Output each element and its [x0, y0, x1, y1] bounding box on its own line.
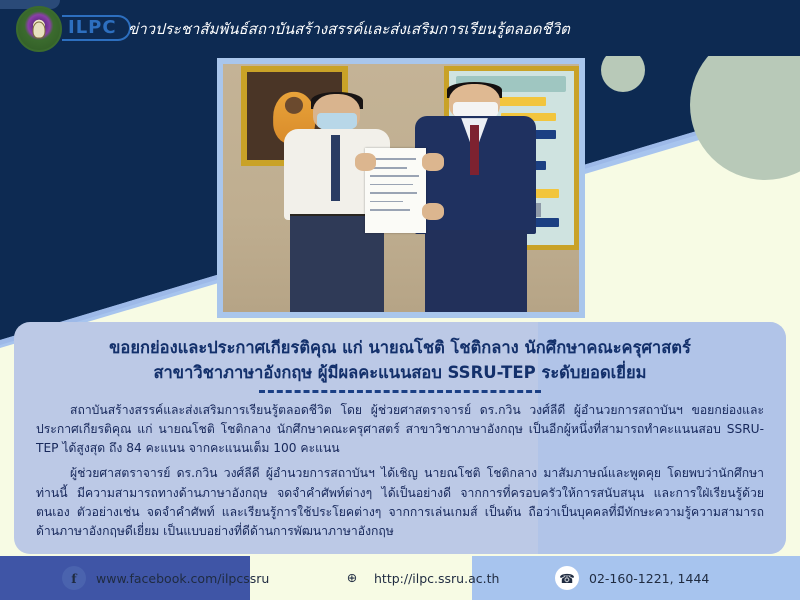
- photo-document-line: [370, 175, 418, 177]
- globe-icon: ⊕: [340, 566, 364, 590]
- photo-document-line: [370, 167, 406, 169]
- news-photo-frame: [217, 58, 585, 318]
- photo-hand-student: [355, 153, 376, 170]
- footer-phone-text: 02-160-1221, 1444: [589, 571, 709, 586]
- ssru-seal-logo-icon: [16, 6, 62, 52]
- ilpc-brand-logo: ILPC: [62, 15, 131, 41]
- phone-icon-glyph: ☎: [559, 571, 575, 586]
- panel-content: ขอยกย่องและประกาศเกียรติคุณ แก่ นายณโชติ…: [36, 336, 764, 541]
- footer-facebook-link[interactable]: f www.facebook.com/ilpcssru: [62, 556, 269, 600]
- headline-line-1: ขอยกย่องและประกาศเกียรติคุณ แก่ นายณโชติ…: [36, 336, 764, 361]
- photo-person-director: [415, 84, 536, 312]
- photo-document-line: [370, 158, 416, 160]
- photo-document-line: [370, 209, 410, 211]
- footer-bar: f www.facebook.com/ilpcssru ⊕ http://ilp…: [0, 556, 800, 600]
- globe-icon-glyph: ⊕: [347, 572, 357, 585]
- footer-phone-info[interactable]: ☎ 02-160-1221, 1444: [555, 556, 709, 600]
- body-paragraph-1: สถาบันสร้างสรรค์และส่งเสริมการเรียนรู้ตล…: [36, 401, 764, 459]
- photo-student-necktie: [331, 135, 341, 200]
- facebook-icon: f: [62, 566, 86, 590]
- photo-hand-director: [422, 153, 443, 170]
- header-title: ข่าวประชาสัมพันธ์สถาบันสร้างสรรค์และส่งเ…: [128, 17, 570, 41]
- photo-document-line: [370, 192, 417, 194]
- photo-director-necktie: [470, 125, 480, 175]
- news-photo: [223, 64, 579, 312]
- photo-document-line: [370, 201, 403, 203]
- photo-document-line: [370, 184, 412, 186]
- footer-website-link[interactable]: ⊕ http://ilpc.ssru.ac.th: [340, 556, 499, 600]
- photo-director-trousers: [425, 230, 527, 312]
- photo-hand-director-lower: [422, 203, 443, 220]
- poster-canvas: ILPC ข่าวประชาสัมพันธ์สถาบันสร้างสรรค์แล…: [0, 0, 800, 600]
- facebook-icon-glyph: f: [71, 571, 76, 586]
- body-paragraph-2: ผู้ช่วยศาสตราจารย์ ดร.กวิน วงศ์ลีดี ผู้อ…: [36, 464, 764, 541]
- header-bar: ILPC ข่าวประชาสัมพันธ์สถาบันสร้างสรรค์แล…: [0, 0, 800, 56]
- headline-line-2: สาขาวิชาภาษาอังกฤษ ผู้มีผลคะแนนสอบ SSRU-…: [36, 361, 764, 386]
- ilpc-brand-label: ILPC: [68, 19, 117, 37]
- footer-facebook-text: www.facebook.com/ilpcssru: [96, 571, 269, 586]
- footer-website-text: http://ilpc.ssru.ac.th: [374, 571, 499, 586]
- dashed-divider: [259, 390, 541, 393]
- phone-icon: ☎: [555, 566, 579, 590]
- announcement-panel: ขอยกย่องและประกาศเกียรติคุณ แก่ นายณโชติ…: [14, 322, 786, 554]
